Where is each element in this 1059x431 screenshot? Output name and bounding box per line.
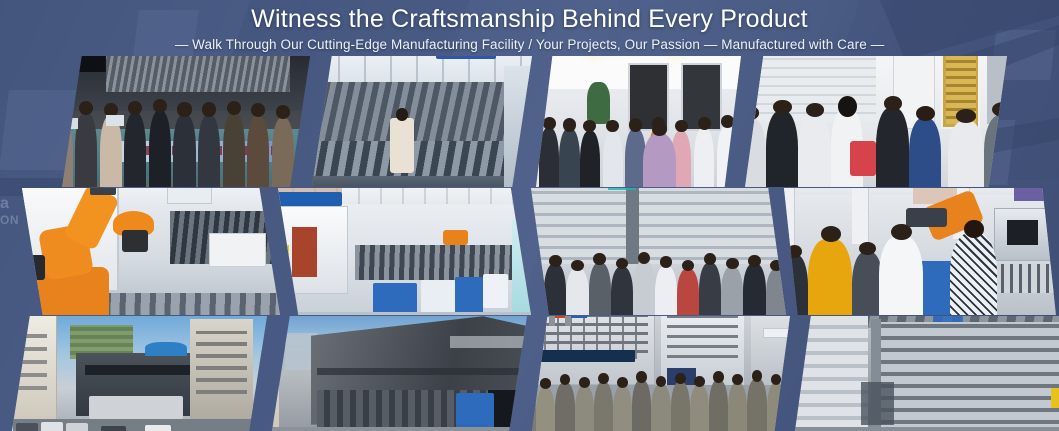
scene-warehouse-visit — [531, 188, 786, 315]
subtitle-dash-right: — — [871, 37, 885, 52]
gallery-tile-r2c2[interactable] — [278, 188, 531, 315]
gallery-tile-r2c4[interactable] — [784, 188, 1056, 315]
photo-gallery-grid — [0, 0, 1059, 431]
scene-robot-arm — [22, 188, 280, 315]
scene-showroom-tour — [536, 56, 741, 187]
gallery-tile-r3c2[interactable] — [272, 316, 527, 431]
gallery-tile-r2c3[interactable] — [531, 188, 786, 315]
gallery-tile-r1c4[interactable] — [745, 56, 1007, 187]
gallery-tile-r2c1[interactable] — [22, 188, 280, 315]
scene-warehouse-racking — [795, 316, 1059, 431]
scene-showroom-corridor — [745, 56, 1007, 187]
gallery-tile-r1c3[interactable] — [536, 56, 741, 187]
page-subtitle: — Walk Through Our Cutting-Edge Manufact… — [0, 36, 1059, 54]
gallery-tile-r3c3[interactable] — [532, 316, 790, 431]
scene-customer-inspection — [784, 188, 1056, 315]
scene-workshop-exterior — [272, 316, 527, 431]
gallery-tile-r3c4[interactable] — [795, 316, 1059, 431]
scene-production-line — [312, 56, 532, 187]
scene-automation-zone — [278, 188, 531, 315]
page-title: Witness the Craftsmanship Behind Every P… — [0, 5, 1059, 33]
scene-staff-assembly — [532, 316, 790, 431]
gallery-tile-r1c2[interactable] — [312, 56, 532, 187]
banner-header: Witness the Craftsmanship Behind Every P… — [0, 0, 1059, 56]
scene-team-group-photo — [62, 56, 310, 187]
gallery-tile-r3c1[interactable] — [12, 316, 267, 431]
subtitle-text: Walk Through Our Cutting-Edge Manufactur… — [192, 37, 867, 52]
subtitle-dash-left: — — [175, 37, 189, 52]
gallery-tile-r1c1[interactable] — [62, 56, 310, 187]
scene-office-exterior — [12, 316, 267, 431]
